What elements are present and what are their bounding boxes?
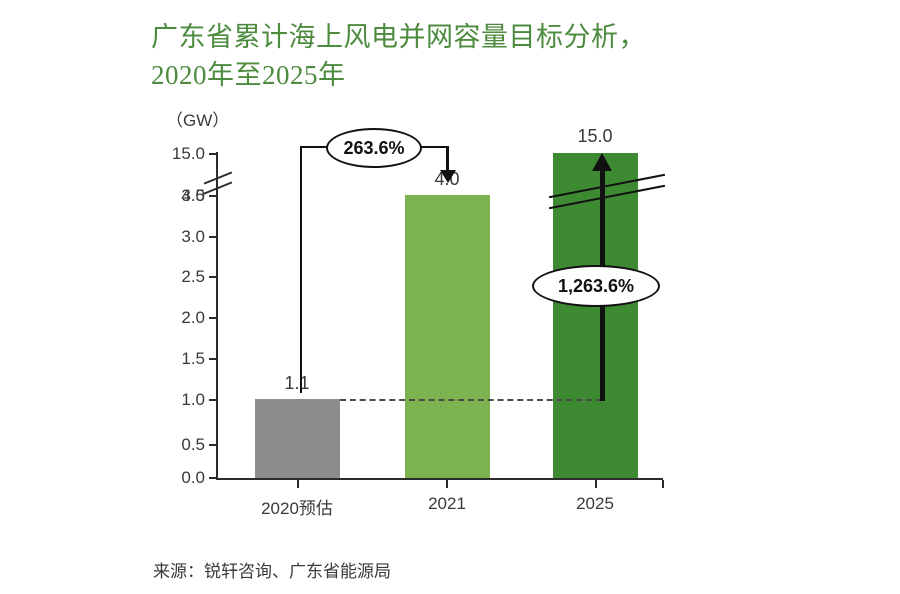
y-tick-0 xyxy=(209,477,217,479)
bar-value-2021: 4.0 xyxy=(402,169,492,190)
bar-break-slash-2 xyxy=(549,185,665,209)
x-tick-2 xyxy=(595,480,597,488)
y-label-3: 1.5 xyxy=(159,349,205,369)
y-label-5: 2.5 xyxy=(159,267,205,287)
y-tick-extra xyxy=(209,236,217,238)
x-tick-end xyxy=(662,480,664,488)
callout1-connector-vertical xyxy=(300,146,302,393)
y-axis-unit-label: （GW） xyxy=(166,106,229,131)
x-category-2025: 2025 xyxy=(520,494,670,514)
source-note: 来源：锐轩咨询、广东省能源局 xyxy=(153,557,391,582)
y-tick-9 xyxy=(209,153,217,155)
y-tick-2 xyxy=(209,399,217,401)
callout1-connector-down xyxy=(446,146,449,173)
bar-value-2020: 1.1 xyxy=(252,373,342,394)
x-tick-1 xyxy=(446,480,448,488)
y-tick-6 xyxy=(209,236,217,238)
y-label-1: 0.5 xyxy=(159,435,205,455)
x-category-2021: 2021 xyxy=(372,494,522,514)
y-tick-3 xyxy=(209,358,217,360)
y-label-2: 1.0 xyxy=(159,390,205,410)
bar-break-slash-1 xyxy=(549,174,665,198)
x-category-2020: 2020预估 xyxy=(222,494,372,519)
y-tick-5 xyxy=(209,276,217,278)
callout1-connector-right xyxy=(410,146,448,148)
chart-title: 广东省累计海上风电并网容量目标分析， 2020年至2025年 xyxy=(151,18,851,94)
y-label-7: 3.5 xyxy=(159,186,205,206)
axis-break-slash-1 xyxy=(204,171,233,184)
y-tick-6c xyxy=(209,236,217,238)
y-label-9: 15.0 xyxy=(159,144,205,164)
y-tick-4 xyxy=(209,317,217,319)
chart-canvas: 广东省累计海上风电并网容量目标分析， 2020年至2025年 （GW） 0.0 … xyxy=(0,0,900,594)
y-label-6: 3.0 xyxy=(159,227,205,247)
callout2-arrow-icon xyxy=(592,153,612,171)
callout1-connector-left xyxy=(300,146,334,148)
bar-2021 xyxy=(405,195,490,478)
callout-263-badge: 263.6% xyxy=(326,128,422,168)
bar-2020 xyxy=(255,399,340,478)
x-axis-line xyxy=(216,478,663,480)
bar-2025 xyxy=(553,153,638,478)
bar-value-2025: 15.0 xyxy=(550,126,640,147)
x-tick-0 xyxy=(297,480,299,488)
callout1-arrow-icon xyxy=(440,170,456,183)
y-label-8: 4.0 xyxy=(159,186,205,206)
y-tick-8 xyxy=(209,195,217,197)
y-tick-1 xyxy=(209,444,217,446)
callout2-arrow-shaft xyxy=(600,168,605,401)
y-axis-line xyxy=(216,152,218,480)
callout-1263-badge: 1,263.6% xyxy=(532,265,660,307)
axis-break-slash-2 xyxy=(204,181,233,194)
y-label-4: 2.0 xyxy=(159,308,205,328)
y-label-0: 0.0 xyxy=(159,468,205,488)
y-tick-6b xyxy=(209,236,217,238)
reference-line-1-1 xyxy=(340,399,602,401)
